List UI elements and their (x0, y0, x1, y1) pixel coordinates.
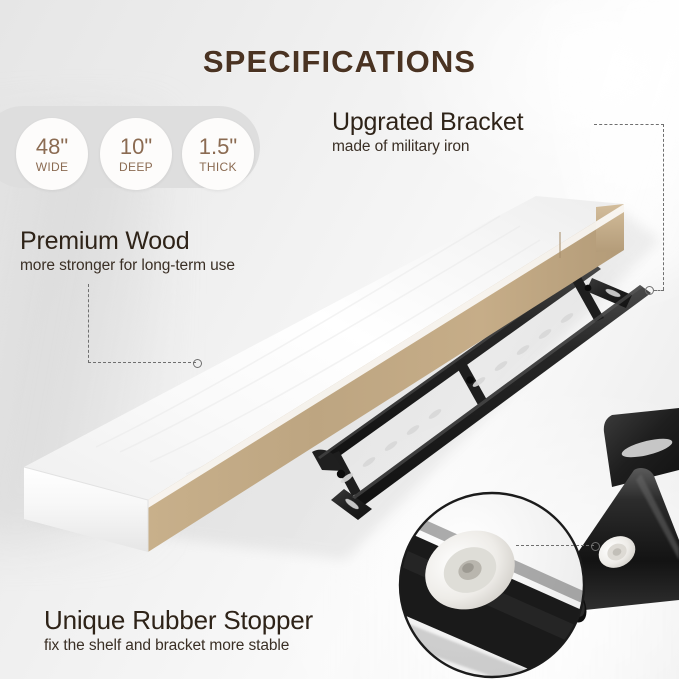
spec-badge-thickness-label: THICK (199, 161, 237, 173)
product-artwork (0, 0, 679, 679)
callout-bracket: Upgrated Bracket made of military iron (332, 108, 523, 156)
callout-wood-subtitle: more stronger for long-term use (20, 257, 235, 275)
spec-badge-depth: 10" DEEP (100, 118, 172, 190)
spec-badge-width-label: WIDE (36, 161, 69, 173)
spec-badge-width: 48" WIDE (16, 118, 88, 190)
callout-wood: Premium Wood more stronger for long-term… (20, 227, 235, 275)
spec-badge-thickness: 1.5" THICK (182, 118, 254, 190)
callout-stopper: Unique Rubber Stopper fix the shelf and … (44, 605, 313, 655)
spec-badge-depth-value: 10" (120, 136, 152, 158)
callout-stopper-title: Unique Rubber Stopper (44, 605, 313, 636)
callout-stopper-subtitle: fix the shelf and bracket more stable (44, 637, 313, 655)
spec-badge-thickness-value: 1.5" (199, 136, 237, 158)
page-title: SPECIFICATIONS (0, 44, 679, 80)
spec-badge-depth-label: DEEP (119, 161, 153, 173)
callout-bracket-title: Upgrated Bracket (332, 108, 523, 137)
callout-bracket-subtitle: made of military iron (332, 138, 523, 156)
spec-badge-width-value: 48" (36, 136, 68, 158)
callout-wood-title: Premium Wood (20, 227, 235, 256)
infographic-canvas: SPECIFICATIONS 48" WIDE 10" DEEP 1.5" TH… (0, 0, 679, 679)
